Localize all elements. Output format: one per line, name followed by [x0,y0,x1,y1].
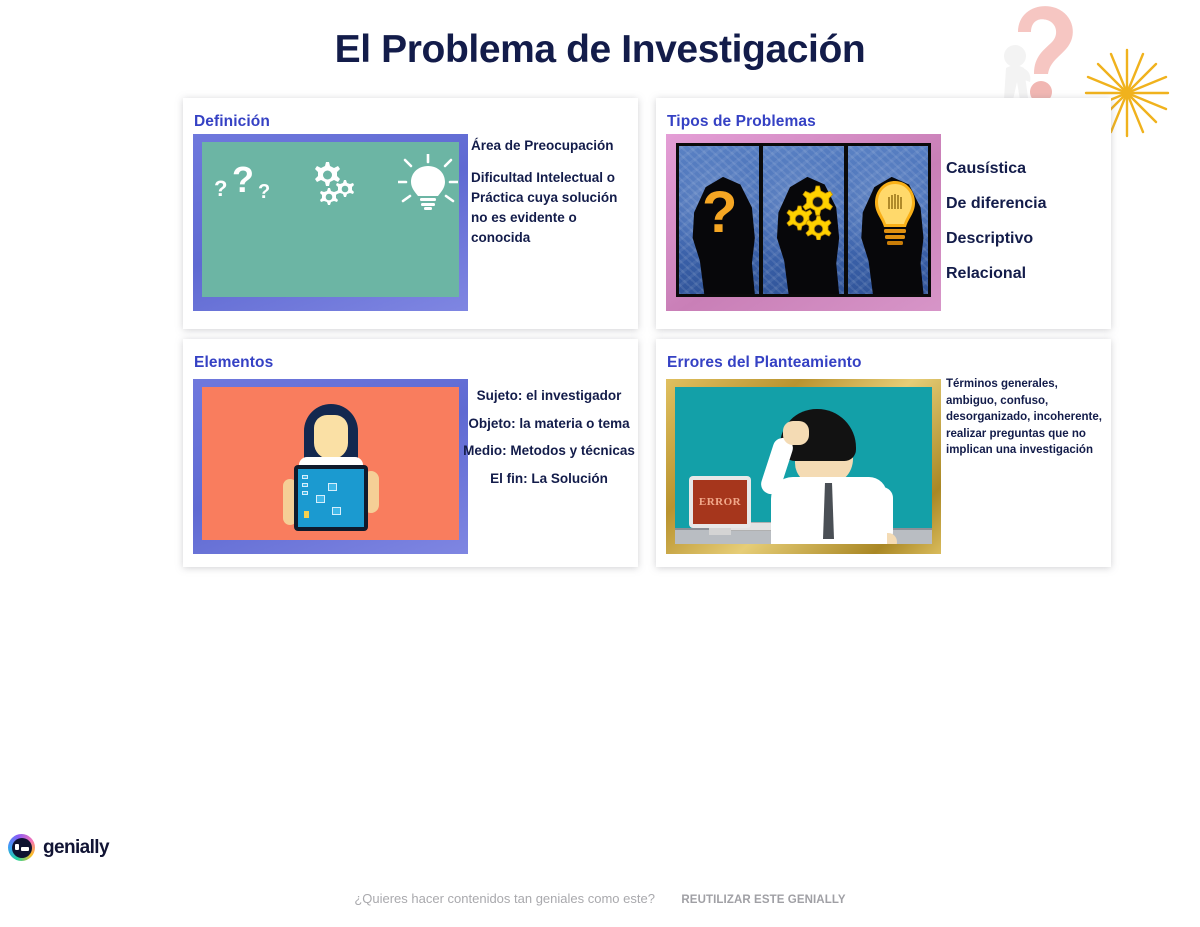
question-marks-icon: ? ? ? [212,156,288,208]
svg-text:?: ? [214,176,227,201]
footer-bar: ¿Quieres hacer contenidos tan geniales c… [0,890,1200,908]
card-body-text: Términos generales, ambiguo, confuso, de… [946,376,1106,459]
svg-text:?: ? [702,182,737,244]
lightbulb-icon [872,179,918,251]
panel-lightbulb [848,146,928,294]
footer-prompt: ¿Quieres hacer contenidos tan geniales c… [354,891,655,906]
card-body-text: Área de Preocupación Dificultad Intelect… [471,136,633,248]
card-elementos[interactable]: Elementos [183,339,638,567]
list-item: Descriptivo [946,221,1106,256]
list-item: Causística [946,151,1106,186]
card-tipos-de-problemas[interactable]: Tipos de Problemas ? [656,98,1111,329]
card-title: Errores del Planteamiento [667,354,862,372]
svg-text:?: ? [258,181,270,203]
woman-with-tablet-illustration [193,379,468,554]
genially-logo[interactable]: genially [8,834,109,861]
question-mark-icon: ? [700,182,744,244]
paragraph: Términos generales, ambiguo, confuso, de… [946,376,1106,459]
gears-icon [786,184,838,240]
list-item: Objeto: la materia o tema [463,415,635,434]
reuse-genially-button[interactable]: REUTILIZAR ESTE GENIALLY [681,894,845,906]
card-body-text: Sujeto: el investigador Objeto: la mater… [463,387,635,488]
card-title: Definición [194,113,270,131]
list-item: Relacional [946,256,1106,291]
card-errores-del-planteamiento[interactable]: Errores del Planteamiento ERROR [656,339,1111,567]
list-item: Sujeto: el investigador [463,387,635,406]
panel-question: ? [679,146,759,294]
panel-gears [763,146,843,294]
tablet-icon [294,465,368,531]
list-item: De diferencia [946,186,1106,221]
error-screen-text: ERROR [693,480,747,524]
card-body-text: Causística De diferencia Descriptivo Rel… [946,151,1106,291]
paragraph: Área de Preocupación [471,136,633,156]
svg-text:?: ? [232,159,254,200]
genially-mark-icon [8,834,35,861]
three-businessmen-illustration: ? ? ? [193,134,468,311]
card-definicion[interactable]: Definición ? ? ? [183,98,638,329]
frustrated-man-at-computer-illustration: ERROR [666,379,941,554]
list-item: Medio: Metodos y técnicas [463,442,635,461]
three-head-silhouettes-illustration: ? [666,134,941,311]
page-title: El Problema de Investigación [0,28,1200,72]
card-title: Tipos de Problemas [667,113,816,131]
lightbulb-icon [398,154,458,212]
gears-icon [308,158,362,208]
list-item: El fin: La Solución [463,470,635,489]
monitor-error-icon: ERROR [689,476,751,528]
genially-wordmark: genially [43,837,109,859]
paragraph: Dificultad Intelectual o Práctica cuya s… [471,168,633,248]
card-title: Elementos [194,354,273,372]
